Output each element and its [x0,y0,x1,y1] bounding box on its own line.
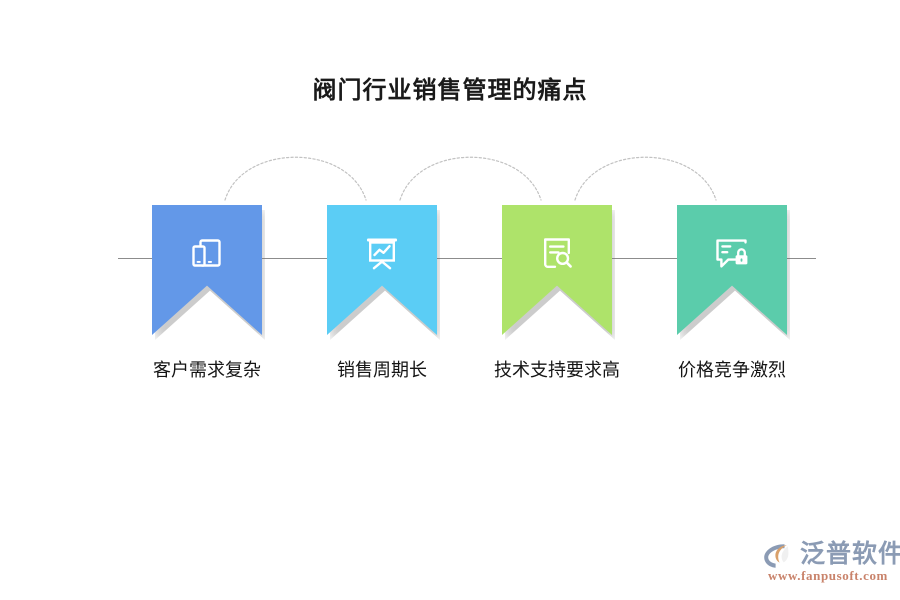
connector-arc-3 [575,157,716,200]
presentation-chart-icon [327,227,437,279]
connector-arc-1 [225,157,366,200]
connector-arc-2 [400,157,541,200]
timeline-banner-label-1: 客户需求复杂 [122,358,292,382]
timeline-banner-label-3: 技术支持要求高 [472,358,642,382]
devices-icon [152,227,262,279]
timeline-banner-4[interactable] [677,205,787,335]
page-title: 阀门行业销售管理的痛点 [0,76,900,106]
logo-watermark: 泛普软件 www.fanpusoft.com [762,540,890,588]
slide-canvas: 阀门行业销售管理的痛点 客户需求复杂 [0,0,900,600]
logo-url: www.fanpusoft.com [768,568,888,584]
document-search-icon [502,227,612,279]
timeline-banner-3[interactable] [502,205,612,335]
logo-brand-name: 泛普软件 [800,540,900,568]
timeline-banner-1[interactable] [152,205,262,335]
timeline-banner-label-4: 价格竞争激烈 [647,358,817,382]
fanpu-logo-icon [762,542,796,570]
chat-lock-icon [677,227,787,279]
timeline-banner-label-2: 销售周期长 [297,358,467,382]
timeline-banner-2[interactable] [327,205,437,335]
